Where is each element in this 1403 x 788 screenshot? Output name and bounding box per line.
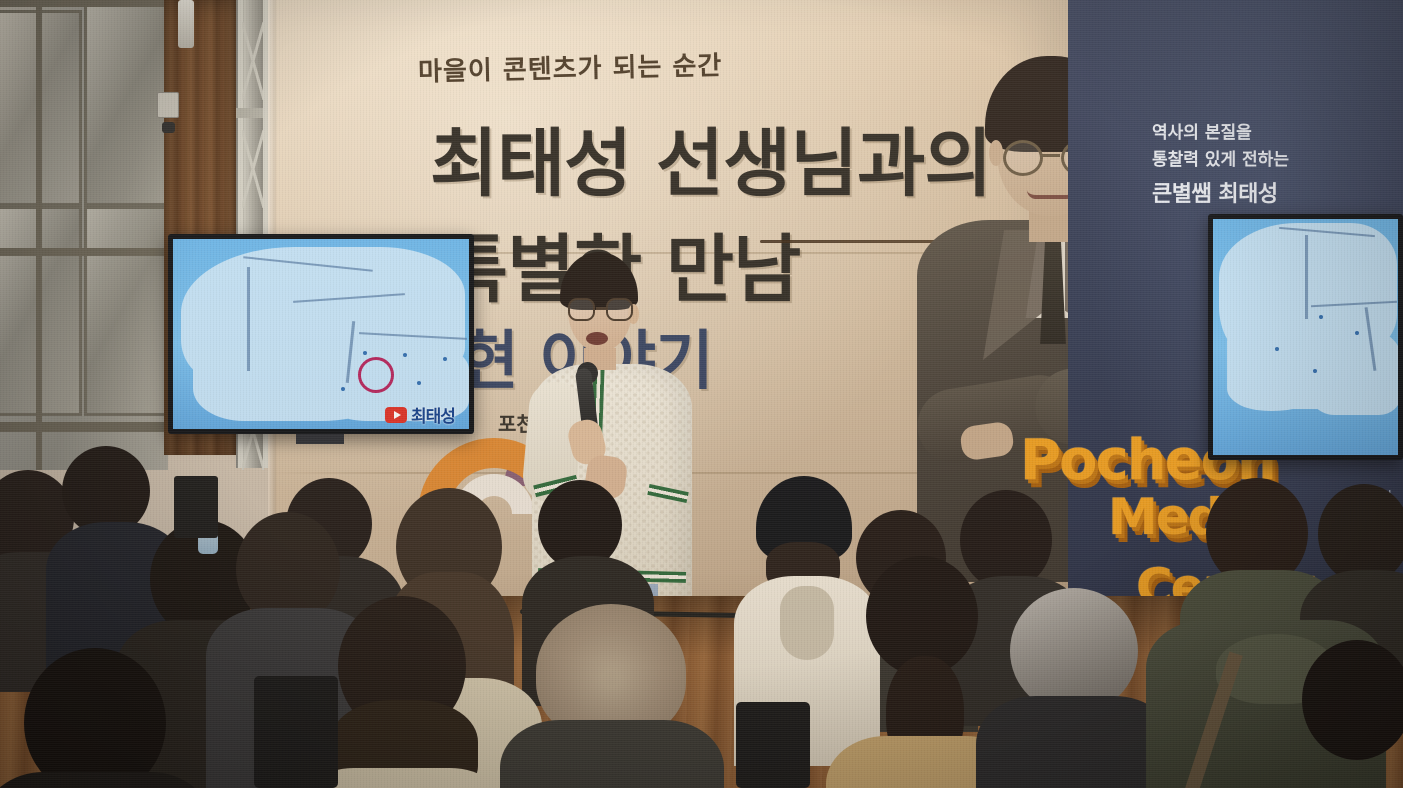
banner-kicker-text: 마을이 콘텐츠가 되는 순간 xyxy=(418,45,749,89)
left-display[interactable]: 최태성 xyxy=(168,234,474,434)
chair-back-left xyxy=(254,676,338,788)
youtube-channel-name: 최태성 xyxy=(411,402,455,427)
navy-tagline-line1: 역사의 본질을 xyxy=(1152,118,1252,143)
map-highlight-circle xyxy=(358,357,394,393)
left-display-stand xyxy=(296,434,344,444)
pa-speaker-cabinet xyxy=(174,476,218,538)
right-display[interactable] xyxy=(1208,214,1403,460)
youtube-icon xyxy=(385,407,407,423)
event-photo-scene: 마을이 콘텐츠가 되는 순간 최태성 선생님과의 특별한 만남 현 이야기 포천… xyxy=(0,0,1403,788)
security-camera-mount xyxy=(157,92,179,118)
navy-tagline-line2: 통찰력 있게 전하는 xyxy=(1152,145,1289,170)
window-wall xyxy=(0,0,168,470)
portrait-glasses-icon xyxy=(1003,140,1043,176)
youtube-watermark: 최태성 xyxy=(385,402,455,427)
presenter-glasses-icon xyxy=(568,298,595,321)
security-camera-icon xyxy=(162,122,175,133)
chair-back xyxy=(736,702,810,788)
right-display-screen xyxy=(1213,219,1398,455)
ceiling-light-bar xyxy=(178,0,194,48)
navy-speaker-name: 큰별쌤 최태성 xyxy=(1152,176,1278,208)
presenter-glasses-icon-right xyxy=(606,298,633,321)
left-display-screen: 최태성 xyxy=(173,239,469,429)
